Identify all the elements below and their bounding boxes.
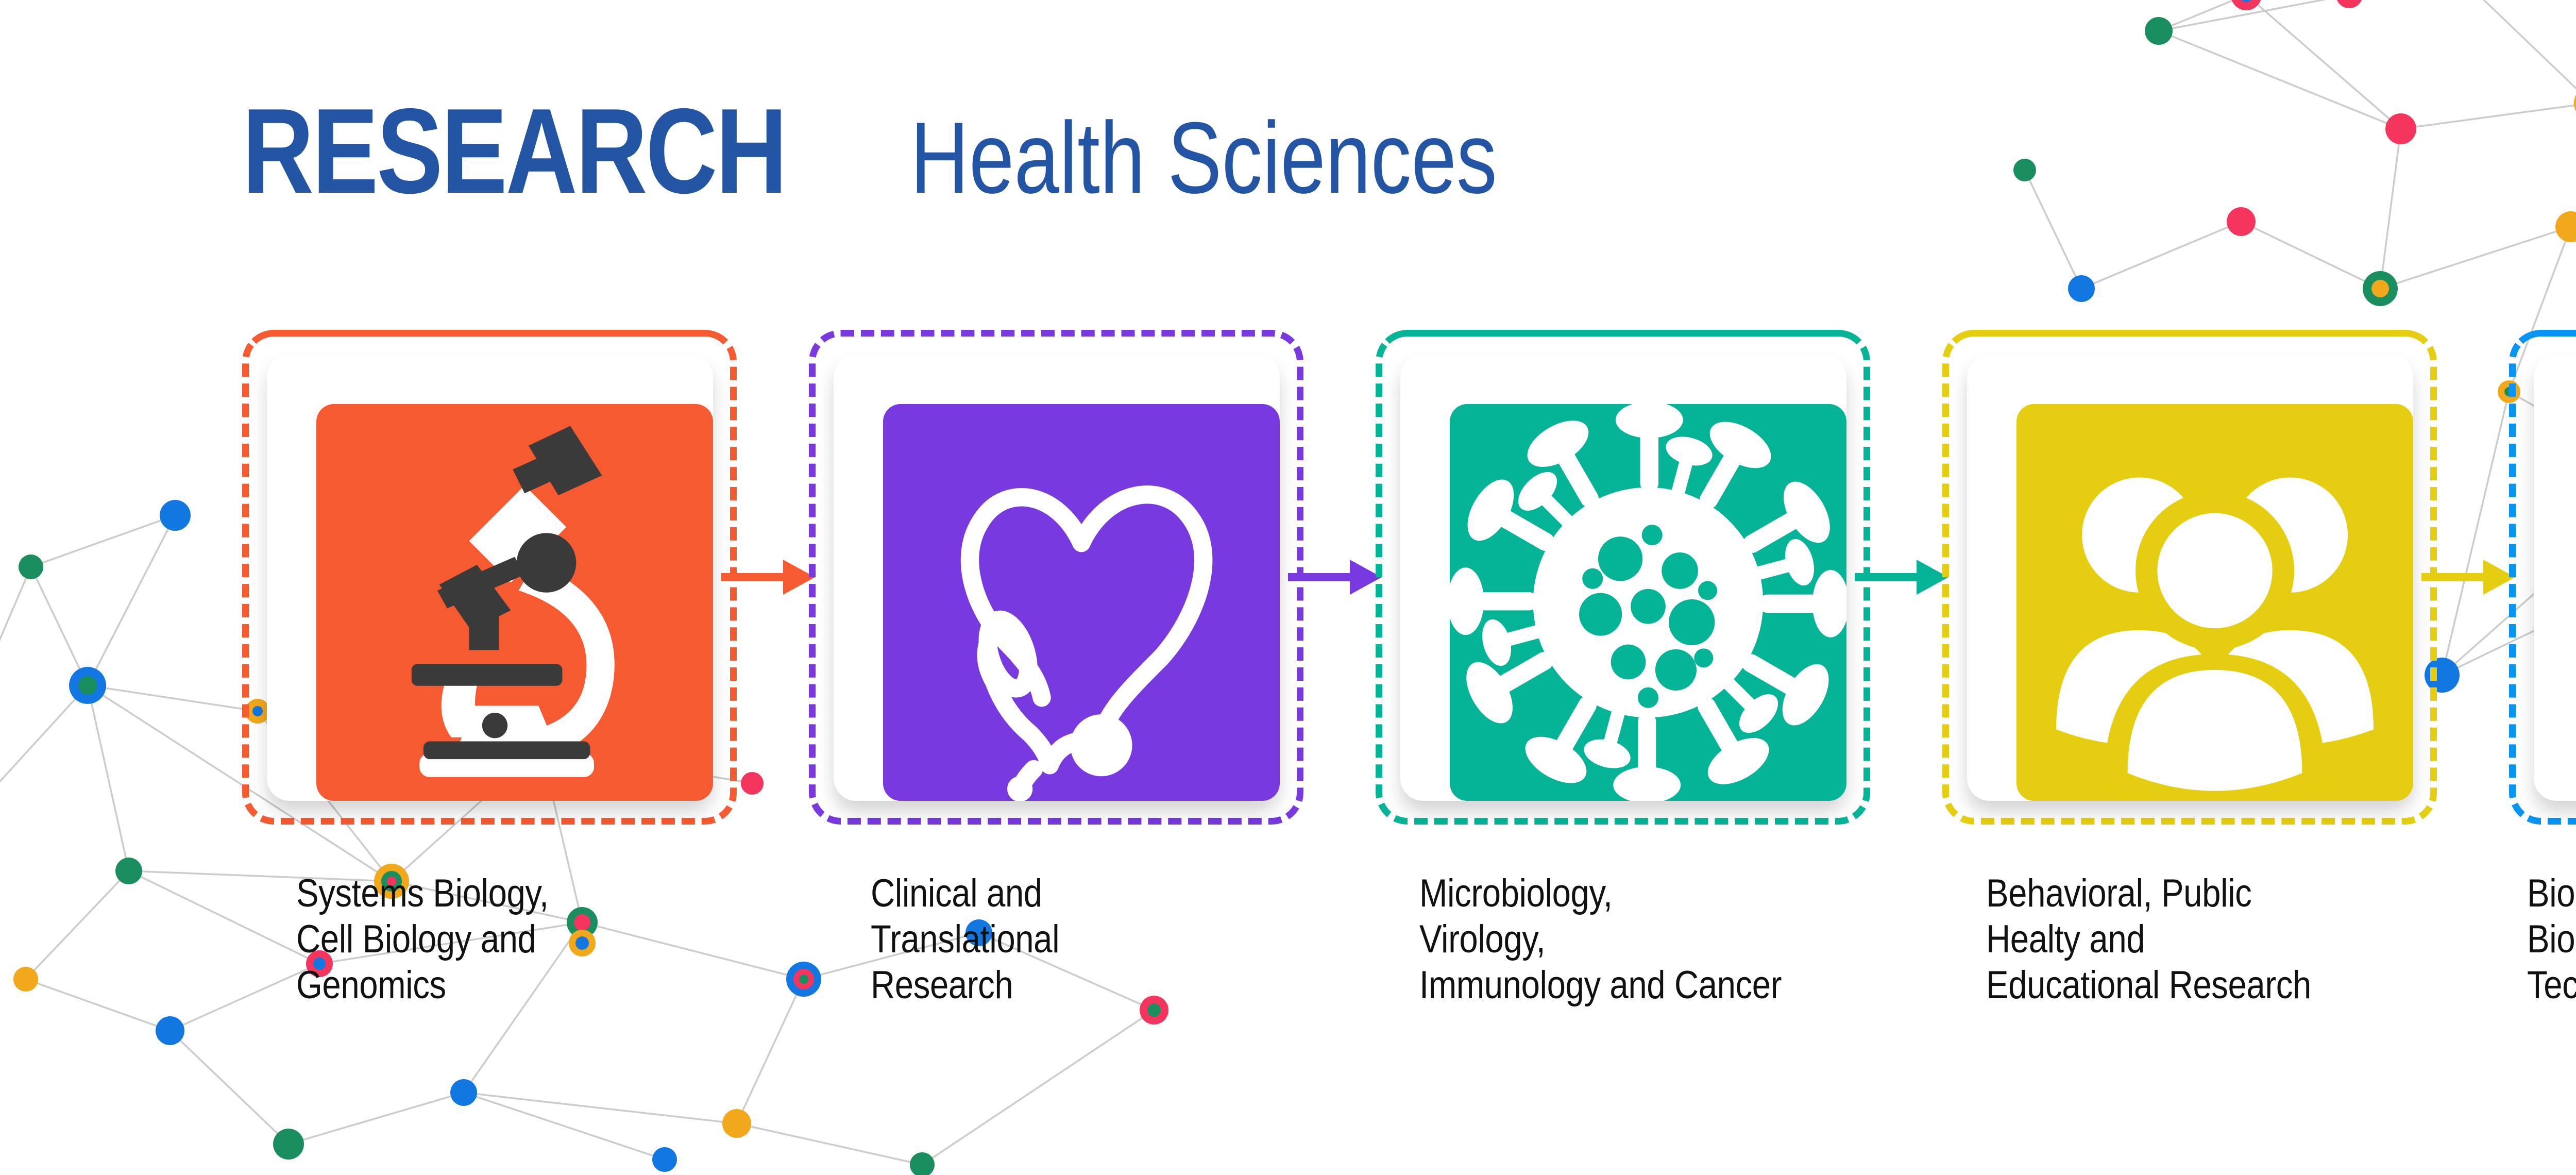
card-biomaterials-biomechanics[interactable] bbox=[2509, 330, 2576, 825]
card-label-biomaterials-biomechanics: Biomaterials, Biomechanics and Technolog… bbox=[2527, 871, 2576, 1009]
card-label-behavioral-public-health: Behavioral, Public Healty and Educationa… bbox=[1986, 871, 2311, 1009]
card-white-frame bbox=[834, 355, 1280, 801]
card-white-frame bbox=[1967, 355, 2413, 801]
title-research: RESEARCH bbox=[242, 90, 786, 211]
card-systems-biology[interactable] bbox=[242, 330, 737, 825]
arrow-1 bbox=[721, 552, 817, 602]
title-health-sciences: Health Sciences bbox=[910, 107, 1497, 209]
heart-stethoscope-icon bbox=[883, 404, 1280, 801]
card-tile bbox=[2016, 404, 2413, 801]
card-behavioral-public-health[interactable] bbox=[1942, 330, 2437, 825]
card-tile bbox=[316, 404, 713, 801]
card-label-microbiology-virology: Microbiology, Virology, Immunology and C… bbox=[1419, 871, 1782, 1009]
card-tile bbox=[1450, 404, 1846, 801]
card-microbiology-virology[interactable] bbox=[1376, 330, 1870, 825]
card-label-clinical-translational: Clinical and Translational Research bbox=[871, 871, 1059, 1009]
page-title: RESEARCH Health Sciences bbox=[242, 90, 1643, 211]
card-tile bbox=[883, 404, 1280, 801]
card-white-frame bbox=[2534, 355, 2576, 801]
card-white-frame bbox=[267, 355, 713, 801]
card-label-systems-biology: Systems Biology, Cell Biology and Genomi… bbox=[296, 871, 549, 1009]
arrow-4 bbox=[2421, 552, 2517, 602]
research-areas-row bbox=[0, 330, 2576, 845]
people-group-icon bbox=[2016, 404, 2413, 801]
arrow-3 bbox=[1855, 552, 1950, 602]
infographic-canvas: RESEARCH Health Sciences bbox=[0, 0, 2576, 1175]
microscope-icon bbox=[316, 404, 713, 801]
virus-icon bbox=[1450, 404, 1846, 801]
arrow-2 bbox=[1288, 552, 1383, 602]
card-clinical-translational[interactable] bbox=[809, 330, 1303, 825]
card-white-frame bbox=[1400, 355, 1846, 801]
